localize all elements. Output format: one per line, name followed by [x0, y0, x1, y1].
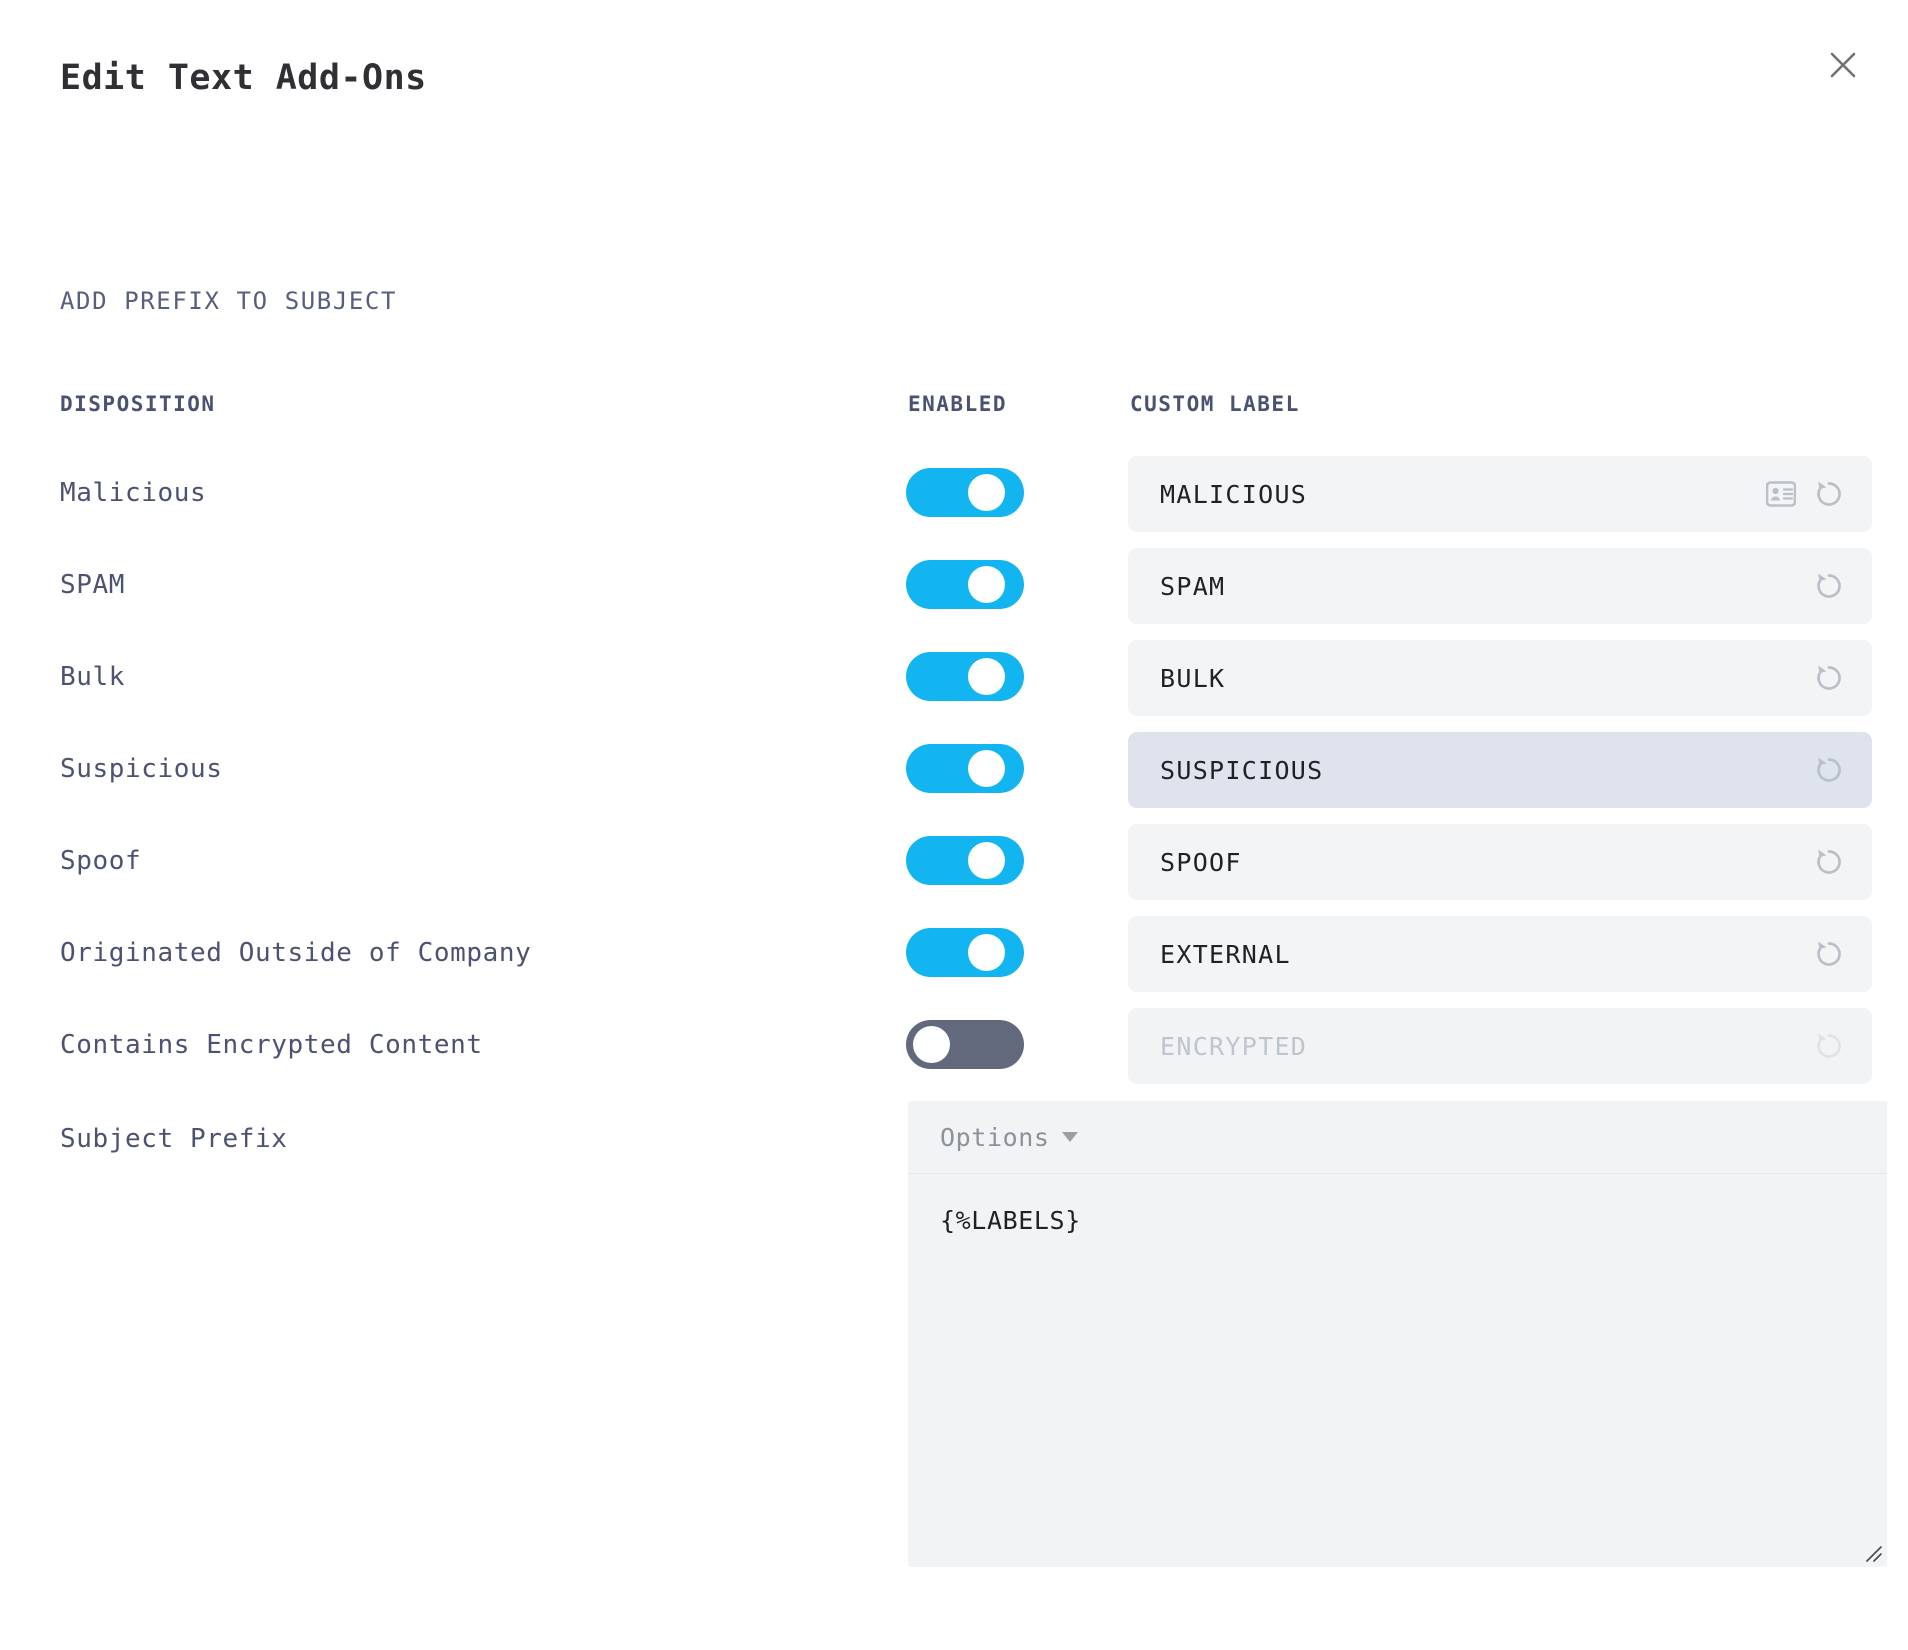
custom-label-value: EXTERNAL	[1160, 940, 1812, 969]
toggle-enabled[interactable]	[906, 928, 1024, 977]
dialog-header: Edit Text Add-Ons	[0, 0, 1908, 150]
toggle-knob	[968, 474, 1005, 511]
reset-icon	[1812, 477, 1846, 511]
table-row: BulkBULK	[0, 636, 1908, 728]
close-button[interactable]	[1816, 38, 1870, 92]
subject-prefix-value[interactable]: {%LABELS}	[940, 1206, 1081, 1235]
subject-prefix-editor: Options {%LABELS}	[908, 1101, 1887, 1567]
toggle-knob	[968, 750, 1005, 787]
field-icon-group	[1812, 1029, 1846, 1063]
reset-button[interactable]	[1812, 753, 1846, 787]
edit-text-addons-dialog: Edit Text Add-Ons ADD PREFIX TO SUBJECT …	[0, 0, 1908, 1650]
chevron-down-icon	[1062, 1132, 1078, 1142]
row-label-subject-prefix: Subject Prefix	[60, 1124, 288, 1154]
close-icon	[1828, 50, 1858, 80]
row-label-disposition: Bulk	[60, 662, 125, 692]
row-label-disposition: SPAM	[60, 570, 125, 600]
reset-icon	[1812, 753, 1846, 787]
toggle-knob	[968, 566, 1005, 603]
row-label-disposition: Contains Encrypted Content	[60, 1030, 483, 1060]
column-header-enabled: ENABLED	[908, 392, 1007, 416]
reset-icon	[1812, 845, 1846, 879]
resize-grip-icon[interactable]	[1861, 1541, 1883, 1563]
custom-label-value: ENCRYPTED	[1160, 1032, 1812, 1061]
row-label-disposition: Originated Outside of Company	[60, 938, 531, 968]
toggle-knob	[968, 934, 1005, 971]
toggle-knob	[913, 1026, 950, 1063]
toggle-enabled[interactable]	[906, 652, 1024, 701]
custom-label-input[interactable]: EXTERNAL	[1128, 916, 1872, 992]
reset-icon	[1812, 937, 1846, 971]
page-title: Edit Text Add-Ons	[60, 58, 427, 98]
contact-card-button[interactable]	[1766, 481, 1796, 507]
toggle-knob	[968, 658, 1005, 695]
field-icon-group	[1812, 569, 1846, 603]
custom-label-input[interactable]: SPAM	[1128, 548, 1872, 624]
options-label: Options	[940, 1123, 1050, 1152]
custom-label-value: SPOOF	[1160, 848, 1812, 877]
custom-label-input[interactable]: MALICIOUS	[1128, 456, 1872, 532]
toggle-enabled[interactable]	[906, 560, 1024, 609]
reset-button[interactable]	[1812, 937, 1846, 971]
column-header-custom-label: CUSTOM LABEL	[1130, 392, 1300, 416]
reset-icon	[1812, 661, 1846, 695]
table-row: SpoofSPOOF	[0, 820, 1908, 912]
custom-label-value: SUSPICIOUS	[1160, 756, 1812, 785]
table-row: Originated Outside of CompanyEXTERNAL	[0, 912, 1908, 1004]
toggle-enabled[interactable]	[906, 836, 1024, 885]
custom-label-input[interactable]: BULK	[1128, 640, 1872, 716]
custom-label-input[interactable]: SUSPICIOUS	[1128, 732, 1872, 808]
field-icon-group	[1812, 661, 1846, 695]
toggle-enabled[interactable]	[906, 1020, 1024, 1069]
section-heading-add-prefix-to-subject: ADD PREFIX TO SUBJECT	[60, 287, 397, 315]
custom-label-value: SPAM	[1160, 572, 1812, 601]
custom-label-value: MALICIOUS	[1160, 480, 1766, 509]
disposition-rows: MaliciousMALICIOUSSPAMSPAMBulkBULKSuspic…	[0, 452, 1908, 1096]
row-label-disposition: Suspicious	[60, 754, 223, 784]
row-label-disposition: Spoof	[60, 846, 141, 876]
column-header-disposition: DISPOSITION	[60, 392, 216, 416]
subject-prefix-textarea[interactable]: {%LABELS}	[908, 1174, 1887, 1567]
contact-card-icon	[1766, 481, 1796, 507]
custom-label-input[interactable]: SPOOF	[1128, 824, 1872, 900]
table-row: SPAMSPAM	[0, 544, 1908, 636]
options-dropdown-button[interactable]: Options	[940, 1123, 1078, 1152]
field-icon-group	[1812, 753, 1846, 787]
reset-button	[1812, 1029, 1846, 1063]
field-icon-group	[1812, 937, 1846, 971]
reset-button[interactable]	[1812, 477, 1846, 511]
reset-icon	[1812, 569, 1846, 603]
table-row: Contains Encrypted ContentENCRYPTED	[0, 1004, 1908, 1096]
custom-label-value: BULK	[1160, 664, 1812, 693]
toggle-enabled[interactable]	[906, 468, 1024, 517]
field-icon-group	[1812, 845, 1846, 879]
toggle-enabled[interactable]	[906, 744, 1024, 793]
row-label-disposition: Malicious	[60, 478, 206, 508]
table-row: SuspiciousSUSPICIOUS	[0, 728, 1908, 820]
toggle-knob	[968, 842, 1005, 879]
reset-icon	[1812, 1029, 1846, 1063]
reset-button[interactable]	[1812, 569, 1846, 603]
reset-button[interactable]	[1812, 845, 1846, 879]
reset-button[interactable]	[1812, 661, 1846, 695]
table-row: MaliciousMALICIOUS	[0, 452, 1908, 544]
custom-label-input: ENCRYPTED	[1128, 1008, 1872, 1084]
options-bar: Options	[908, 1101, 1887, 1174]
field-icon-group	[1766, 477, 1846, 511]
